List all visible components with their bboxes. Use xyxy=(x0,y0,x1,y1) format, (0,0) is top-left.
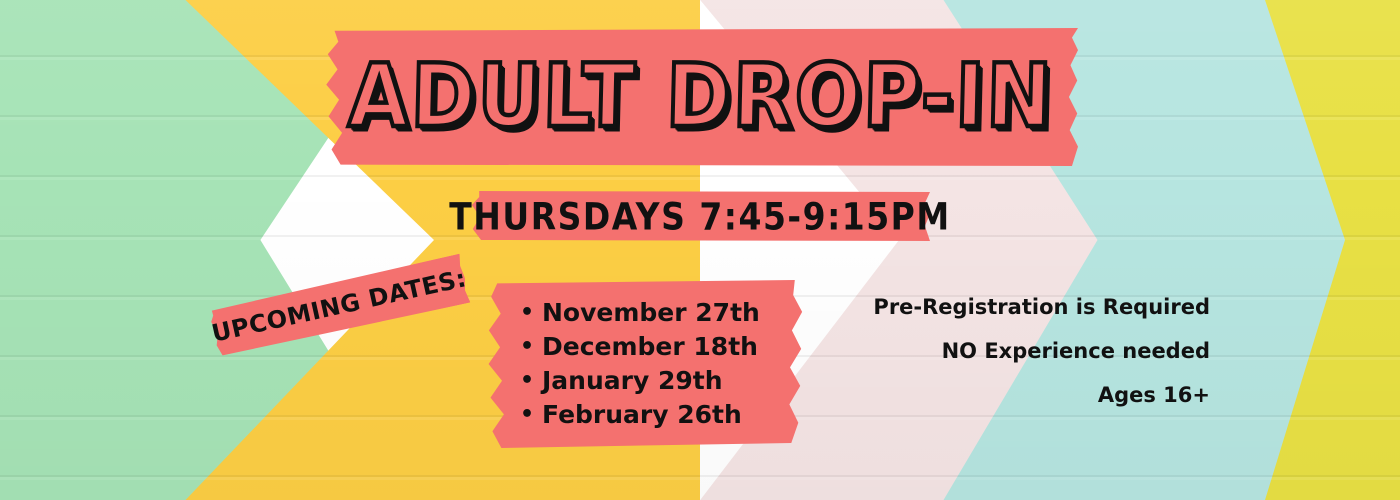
info-line-age: Ages 16+ xyxy=(780,373,1210,417)
page-title: ADULT DROP-IN xyxy=(322,20,1080,175)
list-item: December 18th xyxy=(542,330,806,364)
schedule-subtitle: THURSDAYS 7:45-9:15PM xyxy=(470,188,930,244)
registration-info: Pre-Registration is Required NO Experien… xyxy=(780,285,1210,417)
list-item: November 27th xyxy=(542,296,806,330)
info-line-experience: NO Experience needed xyxy=(780,329,1210,373)
upcoming-dates-list: November 27th December 18th January 29th… xyxy=(486,280,806,448)
list-item: January 29th xyxy=(542,364,806,398)
list-item: February 26th xyxy=(542,398,806,432)
info-line-pre-registration: Pre-Registration is Required xyxy=(780,285,1210,329)
promo-banner: ADULT DROP-IN THURSDAYS 7:45-9:15PM UPCO… xyxy=(0,0,1400,500)
